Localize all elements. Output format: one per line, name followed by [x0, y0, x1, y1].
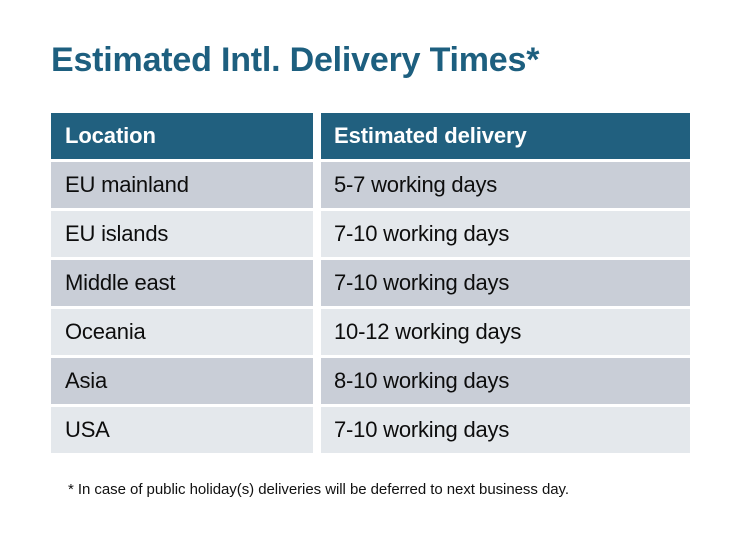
- footnote: * In case of public holiday(s) deliverie…: [68, 480, 569, 500]
- cell-estimated-delivery: 7-10 working days: [321, 211, 690, 257]
- column-header-estimated-delivery: Estimated delivery: [321, 113, 690, 159]
- cell-location: USA: [51, 407, 313, 453]
- cell-location: Asia: [51, 358, 313, 404]
- table-row: USA 7-10 working days: [51, 407, 690, 453]
- cell-estimated-delivery: 7-10 working days: [321, 407, 690, 453]
- column-header-location: Location: [51, 113, 313, 159]
- cell-location: EU islands: [51, 211, 313, 257]
- cell-estimated-delivery: 7-10 working days: [321, 260, 690, 306]
- estimated-delivery-table: Location Estimated delivery EU mainland …: [51, 113, 690, 453]
- cell-estimated-delivery: 10-12 working days: [321, 309, 690, 355]
- cell-location: EU mainland: [51, 162, 313, 208]
- table-row: Asia 8-10 working days: [51, 358, 690, 404]
- cell-estimated-delivery: 5-7 working days: [321, 162, 690, 208]
- cell-estimated-delivery: 8-10 working days: [321, 358, 690, 404]
- table-row: Middle east 7-10 working days: [51, 260, 690, 306]
- cell-location: Middle east: [51, 260, 313, 306]
- table-row: EU islands 7-10 working days: [51, 211, 690, 257]
- table-row: Oceania 10-12 working days: [51, 309, 690, 355]
- delivery-times-page: Estimated Intl. Delivery Times* Location…: [0, 0, 745, 536]
- cell-location: Oceania: [51, 309, 313, 355]
- table-header-row: Location Estimated delivery: [51, 113, 690, 159]
- page-title: Estimated Intl. Delivery Times*: [51, 38, 539, 82]
- table-row: EU mainland 5-7 working days: [51, 162, 690, 208]
